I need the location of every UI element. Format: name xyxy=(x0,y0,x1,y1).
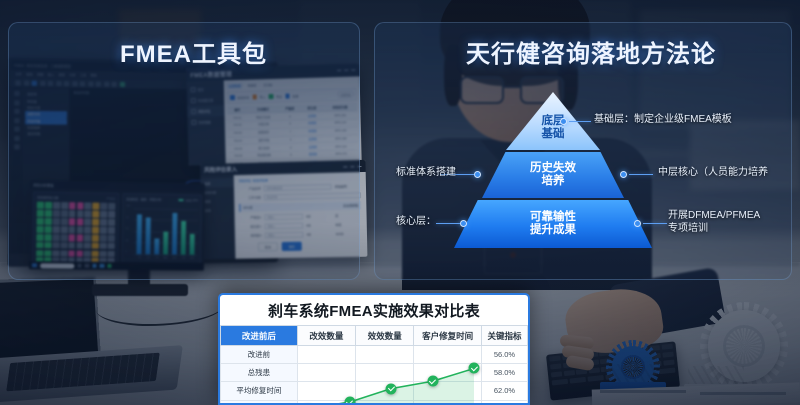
row-label: 阿I导 xyxy=(221,400,298,405)
row-label: 总残患 xyxy=(221,364,298,382)
annotation-base-layer: 基础层：制定企业级FMEA模板 xyxy=(594,114,732,127)
table-row: 总残患 58.0% xyxy=(221,364,528,382)
card-table-wrap: 改进前后 改效数量 效效数量 客户修复时间 关键指标 改进前 56.0% xyxy=(220,325,528,405)
column-header-c4: 客户修复时间 xyxy=(414,326,482,346)
annotation-training-line1: 开展DFMEA/PFMEA xyxy=(668,210,760,223)
connector-node-middle-left xyxy=(474,171,481,178)
annotation-training-line2: 专项培训 xyxy=(668,223,760,236)
connector-node-top xyxy=(560,118,567,125)
tier-bottom-line1: 可靠输性 xyxy=(530,211,576,224)
card-title: 刹车系统FMEA实施效果对比表 xyxy=(220,295,528,325)
connector-line-top xyxy=(569,121,591,122)
scene-root: FMEA · 刹车系统总成 - 三维装配模型 文件 编辑 视图 插入 装配 分析… xyxy=(0,0,800,405)
cell-c3 xyxy=(356,364,414,382)
tier-middle-line1: 历史失效 xyxy=(530,162,576,175)
cell-c4 xyxy=(414,364,482,382)
table-row: 改进前 56.0% xyxy=(221,346,528,364)
table-header-row: 改进前后 改效数量 效效数量 客户修复时间 关键指标 xyxy=(221,326,528,346)
row-label: 平均修复时间 xyxy=(221,382,298,400)
table-row: 平均修复时间 62.0% xyxy=(221,382,528,400)
right-headline: 天行健咨询落地方法论 xyxy=(466,34,716,69)
cell-c3 xyxy=(356,400,414,405)
annotation-standard-system: 标准体系搭建 xyxy=(396,167,456,180)
table-row: 阿I导 64.2% xyxy=(221,400,528,405)
connector-node-middle-right xyxy=(620,171,627,178)
pyramid-tier-bottom[interactable]: 可靠输性 提升成果 xyxy=(454,200,652,248)
annotation-core-layer-right: 中层核心（人员能力培养 xyxy=(658,167,768,180)
cell-metric: 64.2% xyxy=(481,400,527,405)
cell-c2 xyxy=(297,382,355,400)
cell-c2 xyxy=(297,400,355,405)
tier-top-line2: 基础 xyxy=(542,128,565,141)
cell-c4 xyxy=(414,400,482,405)
column-header-metric: 关键指标 xyxy=(481,326,527,346)
row-label: 改进前 xyxy=(221,346,298,364)
cell-metric: 62.0% xyxy=(481,382,527,400)
connector-line-middle-right xyxy=(629,174,653,175)
cell-c3 xyxy=(356,382,414,400)
cell-c2 xyxy=(297,346,355,364)
connector-node-bottom-left xyxy=(460,220,467,227)
comparison-card: 刹车系统FMEA实施效果对比表 改进前后 改效数量 效效数量 客户修复时间 关键… xyxy=(218,293,530,405)
cell-c4 xyxy=(414,346,482,364)
column-header-c2: 改效数量 xyxy=(297,326,355,346)
cell-c2 xyxy=(297,364,355,382)
connector-line-bottom-left xyxy=(436,223,460,224)
comparison-table: 改进前后 改效数量 效效数量 客户修复时间 关键指标 改进前 56.0% xyxy=(220,325,528,405)
cell-c3 xyxy=(356,346,414,364)
connector-node-bottom-right xyxy=(634,220,641,227)
pyramid-tier-middle[interactable]: 历史失效 培养 xyxy=(482,152,624,198)
tier-middle-line2: 培养 xyxy=(542,175,565,188)
cell-c4 xyxy=(414,382,482,400)
tier-bottom-line2: 提升成果 xyxy=(530,224,576,237)
cell-metric: 56.0% xyxy=(481,346,527,364)
column-header-c3: 效效数量 xyxy=(356,326,414,346)
cell-metric: 58.0% xyxy=(481,364,527,382)
annotation-core-layer-left: 核心层： xyxy=(396,216,436,229)
left-headline: FMEA工具包 xyxy=(120,34,267,69)
column-header-stage: 改进前后 xyxy=(221,326,298,346)
annotation-training: 开展DFMEA/PFMEA 专项培训 xyxy=(668,210,760,235)
connector-line-bottom-right xyxy=(643,223,667,224)
